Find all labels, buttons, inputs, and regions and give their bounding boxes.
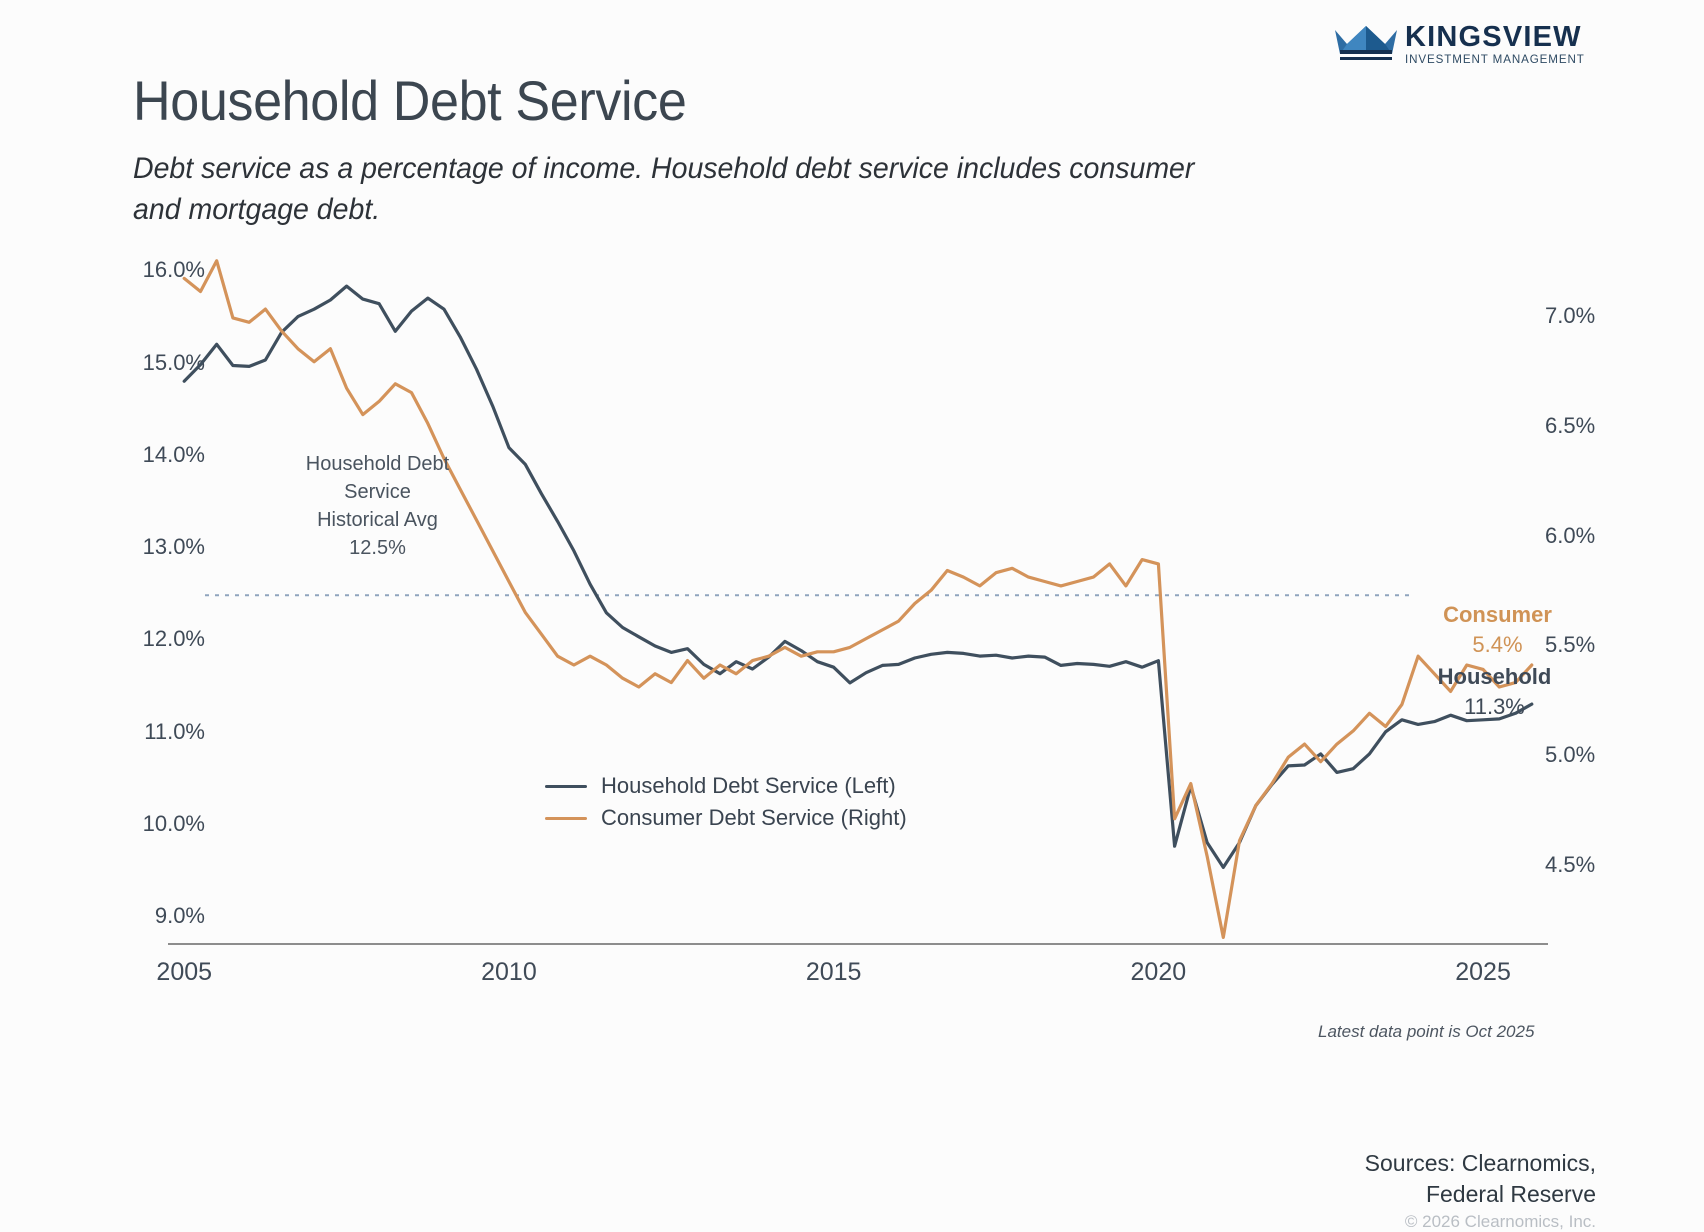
sources-note: Sources: Clearnomics, Federal Reserve: [1365, 1148, 1596, 1210]
historical-avg-value: 12.5%: [270, 534, 485, 562]
legend-swatch-household: [545, 785, 587, 788]
legend-item-household: Household Debt Service (Left): [545, 770, 907, 802]
copyright-note: © 2026 Clearnomics, Inc.: [1405, 1212, 1596, 1232]
legend-label-consumer: Consumer Debt Service (Right): [601, 805, 907, 831]
chart-legend: Household Debt Service (Left) Consumer D…: [545, 770, 907, 834]
end-label-consumer-name: Consumer: [1440, 600, 1555, 630]
legend-label-household: Household Debt Service (Left): [601, 773, 896, 799]
end-label-household-value: 11.3%: [1432, 692, 1557, 722]
chart-slide: KINGSVIEW INVESTMENT MANAGEMENT Househol…: [0, 0, 1704, 1200]
end-label-household: Household 11.3%: [1432, 662, 1557, 722]
sources-line-2: Federal Reserve: [1365, 1179, 1596, 1210]
legend-item-consumer: Consumer Debt Service (Right): [545, 802, 907, 834]
end-label-consumer-value: 5.4%: [1440, 630, 1555, 660]
historical-avg-line2: Historical Avg: [270, 506, 485, 534]
legend-swatch-consumer: [545, 817, 587, 820]
sources-line-1: Sources: Clearnomics,: [1365, 1148, 1596, 1179]
latest-data-point-note: Latest data point is Oct 2025: [1318, 1022, 1534, 1042]
historical-avg-line1: Household Debt Service: [270, 450, 485, 506]
end-label-household-name: Household: [1432, 662, 1557, 692]
end-label-consumer: Consumer 5.4%: [1440, 600, 1555, 660]
historical-average-annotation: Household Debt Service Historical Avg 12…: [270, 450, 485, 562]
series-line-consumer: [184, 261, 1532, 938]
